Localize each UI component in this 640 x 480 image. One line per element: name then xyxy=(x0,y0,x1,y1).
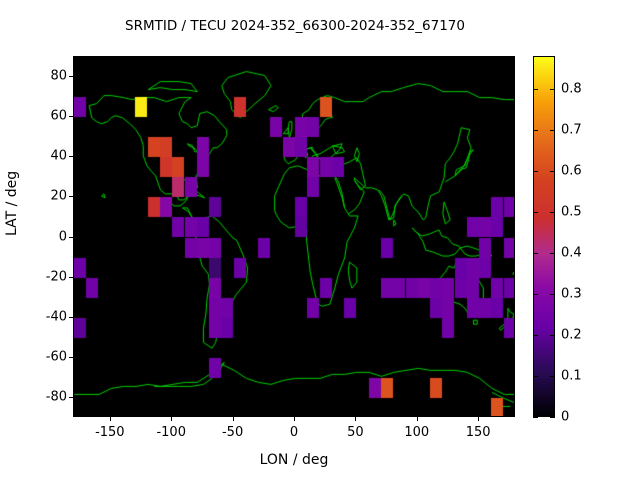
colorbar-tick-mark xyxy=(550,294,555,295)
colorbar-tick-mark xyxy=(533,212,538,213)
x-tick-label: 150 xyxy=(466,425,491,440)
y-tick-mark xyxy=(69,277,73,278)
y-tick-label: 60 xyxy=(50,109,67,124)
colorbar-tick-label: 0.6 xyxy=(561,163,582,178)
colorbar-tick-label: 0.5 xyxy=(561,204,582,219)
x-tick-label: 100 xyxy=(404,425,429,440)
y-tick-label: 80 xyxy=(50,69,67,84)
colorbar-tick-label: 0.4 xyxy=(561,245,582,260)
x-axis-label: LON / deg xyxy=(73,452,515,468)
x-tick-mark xyxy=(233,417,234,421)
y-tick-label: -20 xyxy=(46,269,67,284)
colorbar-tick-mark xyxy=(533,294,538,295)
y-tick-mark xyxy=(69,156,73,157)
y-tick-mark xyxy=(69,196,73,197)
x-tick-label: 0 xyxy=(290,425,298,440)
colorbar-tick-label: 0.3 xyxy=(561,286,582,301)
colorbar-tick-mark xyxy=(533,171,538,172)
colorbar-tick-mark xyxy=(533,253,538,254)
x-tick-mark xyxy=(417,417,418,421)
x-tick-label: 50 xyxy=(347,425,364,440)
y-tick-mark xyxy=(69,357,73,358)
map-plot-area[interactable] xyxy=(73,56,515,417)
colorbar-tick-mark xyxy=(550,130,555,131)
x-tick-mark xyxy=(355,417,356,421)
y-tick-mark xyxy=(69,317,73,318)
x-tick-mark xyxy=(478,417,479,421)
y-axis-label: LAT / deg xyxy=(4,171,20,236)
x-tick-mark xyxy=(171,417,172,421)
colorbar-tick-mark xyxy=(533,376,538,377)
data-cells-layer xyxy=(74,57,515,417)
colorbar-tick-mark xyxy=(550,376,555,377)
y-tick-label: -80 xyxy=(46,389,67,404)
colorbar-tick-mark xyxy=(533,89,538,90)
y-tick-label: 0 xyxy=(59,229,67,244)
colorbar-tick-mark xyxy=(550,89,555,90)
colorbar-tick-label: 0.7 xyxy=(561,122,582,137)
colorbar-tick-label: 0 xyxy=(561,410,569,425)
colorbar-tick-mark xyxy=(550,417,555,418)
colorbar-tick-mark xyxy=(533,417,538,418)
y-tick-mark xyxy=(69,397,73,398)
y-tick-label: -40 xyxy=(46,309,67,324)
colorbar-tick-mark xyxy=(550,335,555,336)
colorbar-tick-label: 0.2 xyxy=(561,327,582,342)
colorbar-tick-label: 0.1 xyxy=(561,368,582,383)
x-tick-label: -150 xyxy=(95,425,125,440)
x-tick-mark xyxy=(110,417,111,421)
heatmap-figure: SRMTID / TECU 2024-352_66300-2024-352_67… xyxy=(0,0,640,480)
x-tick-mark xyxy=(294,417,295,421)
colorbar-tick-mark xyxy=(533,130,538,131)
y-tick-mark xyxy=(69,237,73,238)
x-tick-label: -100 xyxy=(156,425,186,440)
y-tick-label: 40 xyxy=(50,149,67,164)
x-tick-label: -50 xyxy=(222,425,243,440)
colorbar[interactable] xyxy=(533,56,555,417)
colorbar-tick-mark xyxy=(550,171,555,172)
y-tick-mark xyxy=(69,116,73,117)
colorbar-gradient xyxy=(534,57,554,416)
y-tick-label: -60 xyxy=(46,349,67,364)
colorbar-tick-mark xyxy=(550,212,555,213)
colorbar-tick-mark xyxy=(550,253,555,254)
y-tick-label: 20 xyxy=(50,189,67,204)
y-tick-mark xyxy=(69,76,73,77)
colorbar-tick-mark xyxy=(533,335,538,336)
colorbar-tick-label: 0.8 xyxy=(561,81,582,96)
page-title: SRMTID / TECU 2024-352_66300-2024-352_67… xyxy=(0,18,590,34)
